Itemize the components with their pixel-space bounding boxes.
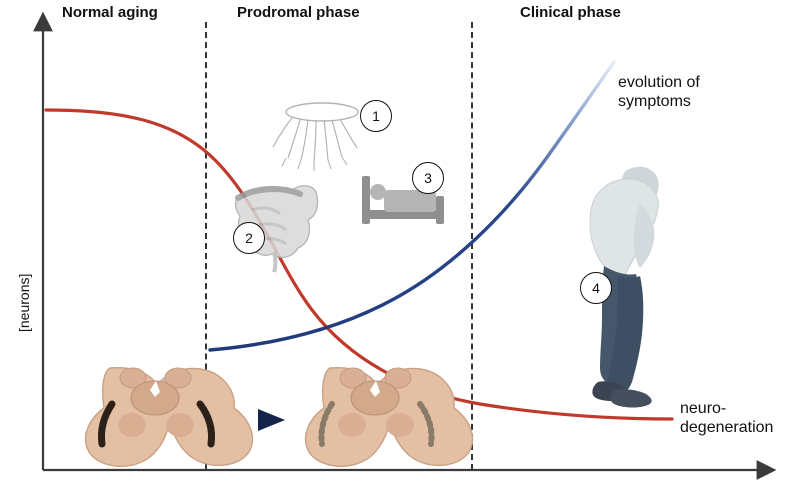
marker-2: 2 <box>233 222 265 254</box>
midbrain-healthy-illustration <box>86 368 253 467</box>
label-symptoms-line1: evolution of <box>618 74 700 93</box>
marker-4: 4 <box>580 272 612 304</box>
olfactory-neuron-illustration <box>273 103 358 171</box>
label-evolution-of-symptoms: evolution of symptoms <box>618 74 700 112</box>
y-axis-label: [neurons] <box>16 274 32 332</box>
label-degeneration-line2: degeneration <box>680 419 773 438</box>
marker-3: 3 <box>412 162 444 194</box>
figure-canvas: Normal aging Prodromal phase Clinical ph… <box>0 0 789 485</box>
midbrain-depleted-illustration <box>306 368 473 467</box>
axes-layer <box>0 0 789 485</box>
label-degeneration-line1: neuro- <box>680 400 773 419</box>
label-symptoms-line2: symptoms <box>618 93 700 112</box>
label-neurodegeneration: neuro- degeneration <box>680 400 773 438</box>
marker-1: 1 <box>360 100 392 132</box>
